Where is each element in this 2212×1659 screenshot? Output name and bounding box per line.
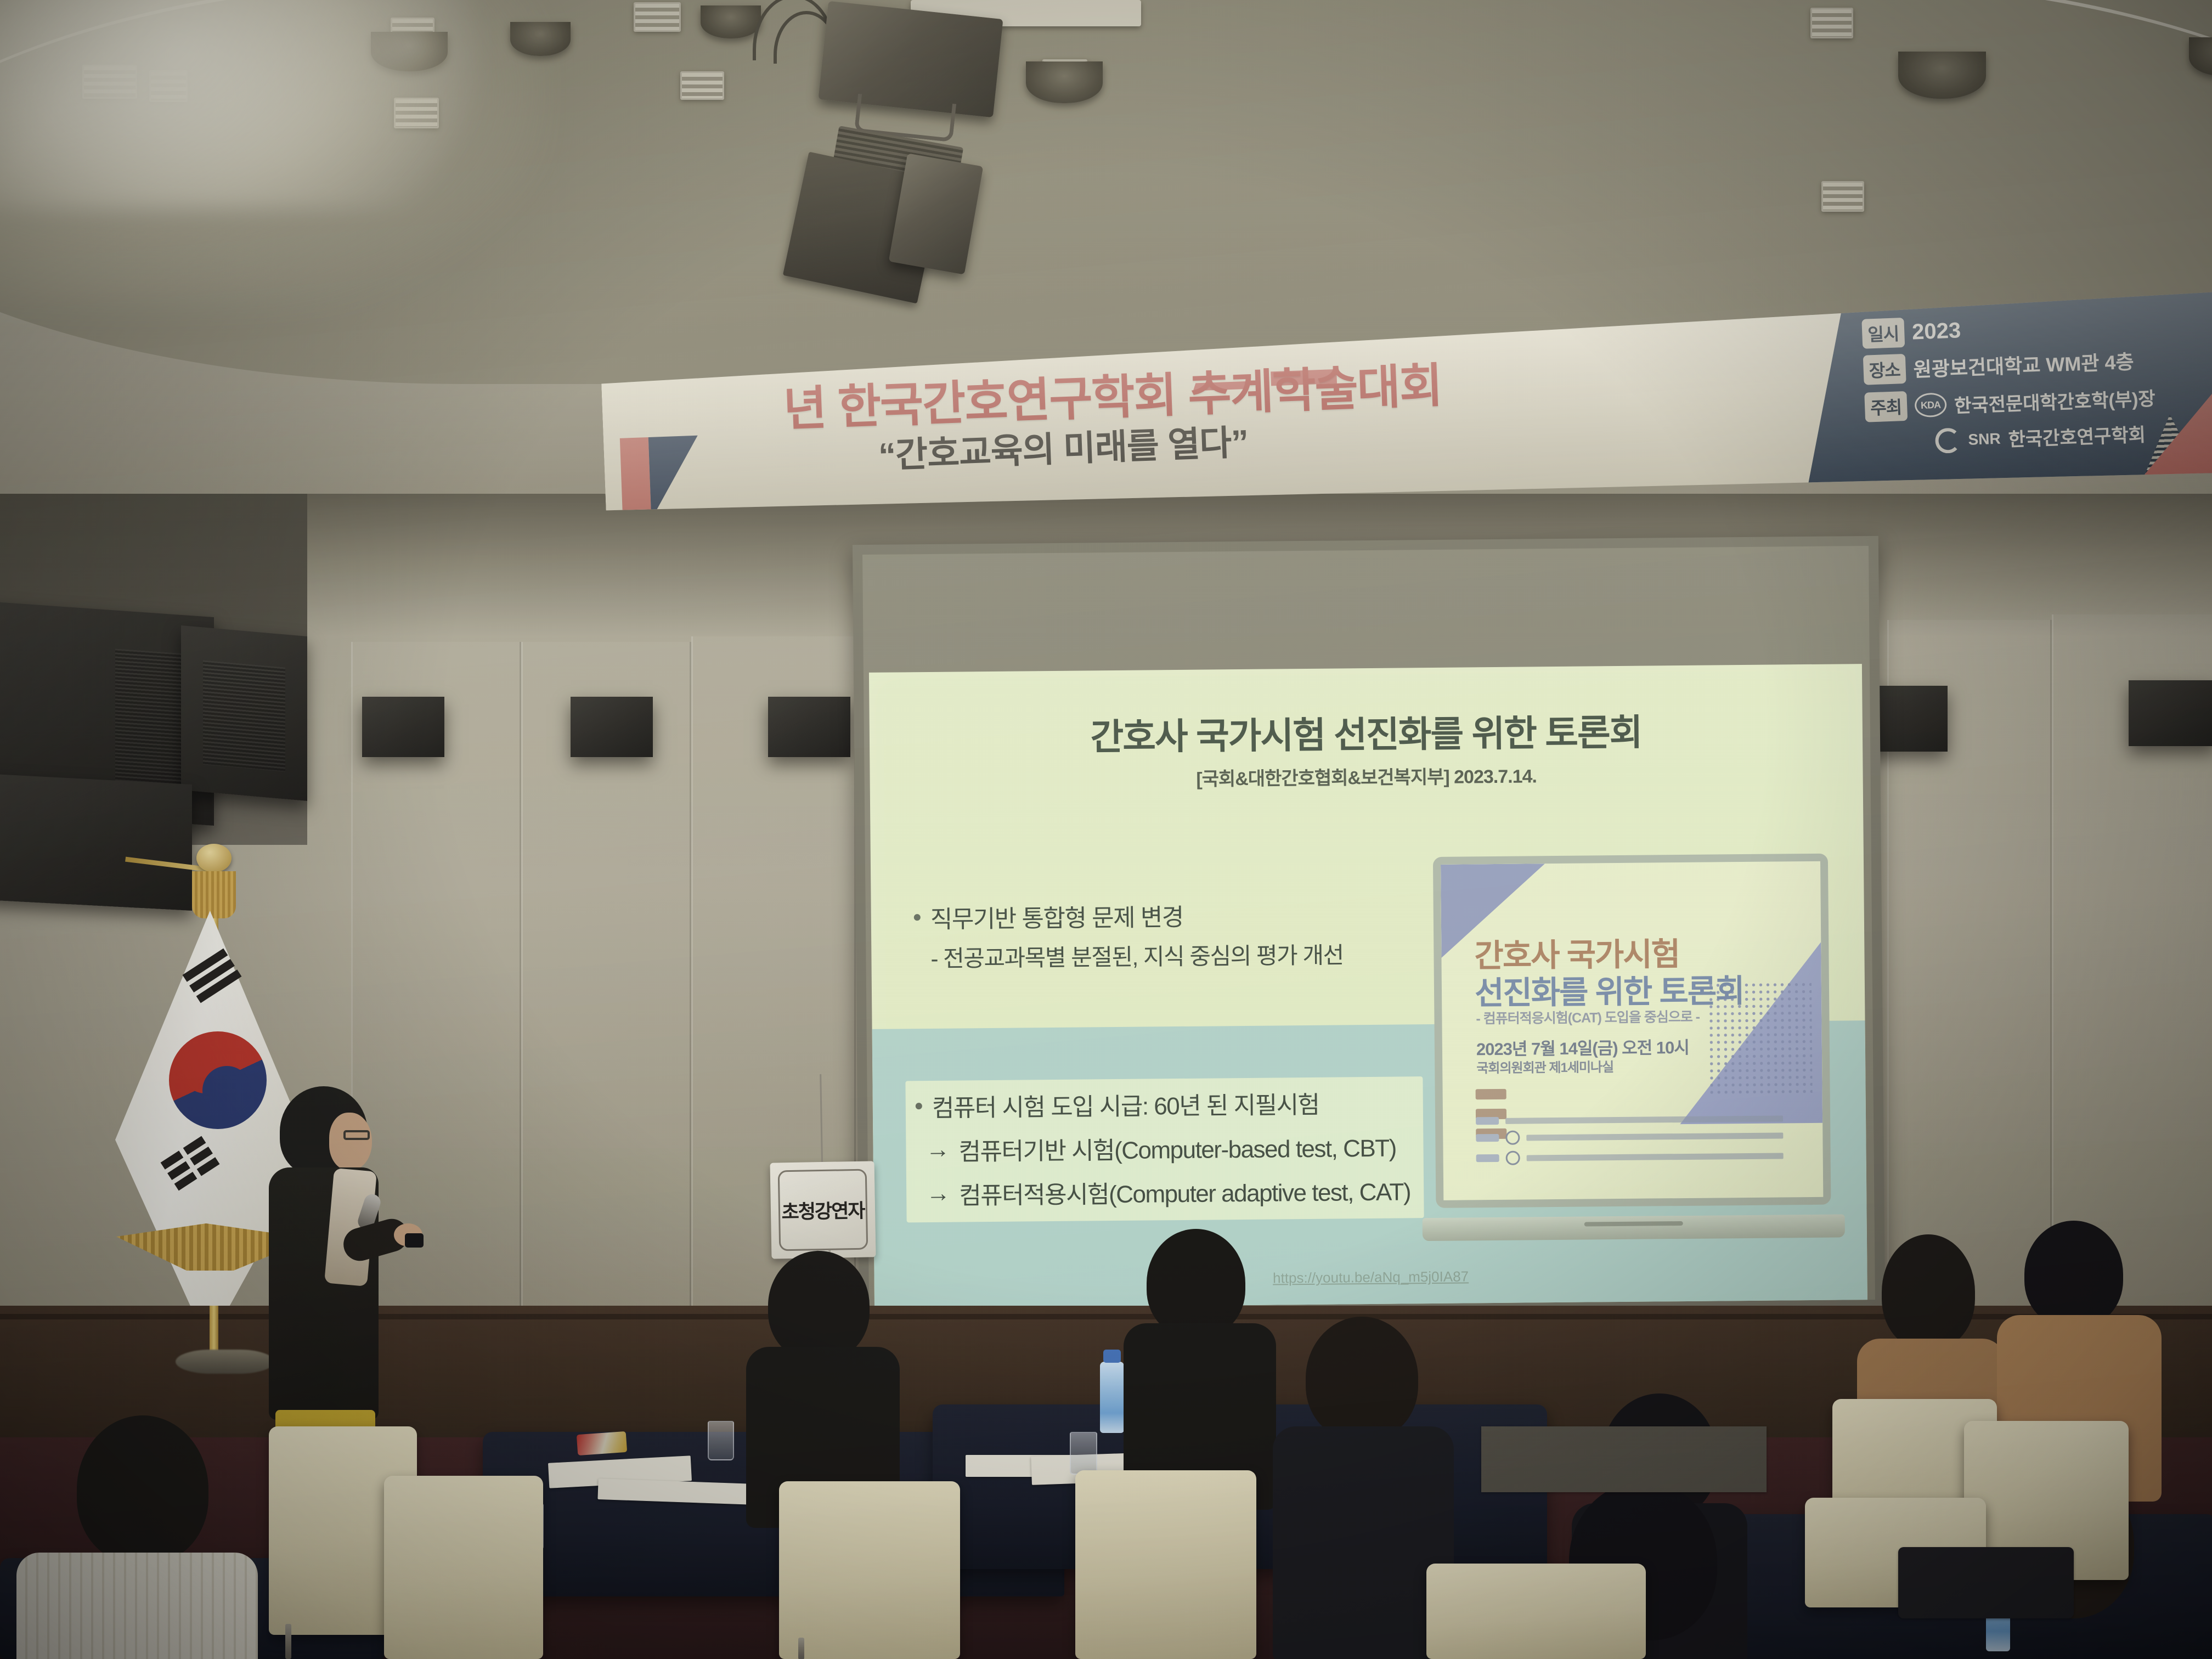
wall-speaker [768,697,850,757]
slide-arrow-text: 컴퓨터적용시험(Computer adaptive test, CAT) [959,1172,1410,1211]
laptop-mockup: 간호사 국가시험 선진화를 위한 토론회 - 컴퓨터적응시험(CAT) 도입을 … [1419,853,1845,1241]
flag-tassel [192,871,236,918]
laptop-bag [1898,1547,2074,1618]
invited-speaker-sign: 초청강연자 [770,1161,876,1259]
banner-info-row-date: 일시 2023 [1861,315,1961,349]
slide-highlight-box: 컴퓨터 시험 도입 시급: 60년 된 지필시험 → 컴퓨터기반 시험(Comp… [905,1076,1424,1222]
banner-host-name-2: 한국간호연구학회 [2008,420,2146,452]
pa-speaker [181,625,307,801]
banner-info-row-venue: 장소 원광보건대학교 WM관 4층 [1863,346,2135,385]
ceiling-vent [1821,181,1864,212]
sign-border: 초청강연자 [778,1169,868,1251]
slide-arrow-item: → 컴퓨터적용시험(Computer adaptive test, CAT) [916,1172,1410,1211]
water-bottle [1100,1362,1124,1433]
sign-text: 초청강연자 [781,1195,865,1225]
slide-bullet-subtext: - 전공교과목별 분절된, 지식 중심의 평가 개선 [914,936,1344,974]
wall-speaker [362,697,444,757]
ribbon-corsage [577,1431,627,1455]
banner-host-name-1: 한국전문대학간호학(부)장 [1954,383,2155,417]
presentation-slide: 간호사 국가시험 선진화를 위한 토론회 [국회&대한간호협회&보건복지부] 2… [869,664,1867,1308]
stage-step [1481,1426,1767,1492]
slide-arrow-item: → 컴퓨터기반 시험(Computer-based test, CBT) [916,1128,1410,1167]
bullet-dot-icon [914,914,921,921]
audience-head [2024,1221,2123,1328]
ceiling-downlight [510,22,571,56]
snr-logo-label: SNR [1968,430,2001,448]
conference-photo-scene: 년 한국간호연구학회 추계학술대회 “간호교육의 미래를 열다” 일시 2023… [0,0,2212,1659]
audience-head [77,1415,208,1564]
banner-motif [620,436,689,521]
audience-chair [1075,1470,1256,1659]
bottle-cap [1103,1350,1121,1363]
audience-head [768,1251,870,1361]
water-glass [708,1421,734,1460]
slide-bullet-text: 직무기반 통합형 문제 변경 [930,898,1183,935]
audience-head [1147,1229,1245,1338]
banner-info-row-host1: 주최 KDA 한국전문대학간호학(부)장 [1864,382,2155,422]
arrow-right-icon: → [926,1180,950,1207]
slide-bullet-group-2: 컴퓨터 시험 도입 시급: 60년 된 지필시험 → 컴퓨터기반 시험(Comp… [905,1076,1424,1222]
wall-speaker [571,697,653,757]
audience-torso [16,1553,258,1659]
poster-organizer-logos [1476,1114,1784,1171]
banner-tag-venue: 장소 [1863,354,1906,385]
speaker-grill [115,648,181,795]
banner-tag-date: 일시 [1861,318,1905,349]
poster-title-line2: 선진화를 위한 토론회 [1475,965,1744,1013]
speaker-grill [203,660,285,771]
logo-tag [1476,1134,1499,1142]
ceiling-downlight [701,5,761,38]
motif-navy-triangle [648,436,701,520]
projection-screen: 간호사 국가시험 선진화를 위한 토론회 [국회&대한간호협회&보건복지부] 2… [853,536,1885,1318]
slide-arrow-text: 컴퓨터기반 시험(Computer-based test, CBT) [958,1128,1396,1167]
ceiling-downlight [1026,61,1103,103]
program-tag [1476,1089,1506,1099]
slide-bullet-group-1: 직무기반 통합형 문제 변경 - 전공교과목별 분절된, 지식 중심의 평가 개… [914,896,1344,974]
chair-leg [285,1624,291,1659]
kda-logo-icon: KDA [1914,392,1947,417]
bullet-dot-icon [916,1103,922,1109]
banner-value-venue: 원광보건대학교 WM관 4층 [1913,346,2135,383]
banner-tag-host: 주최 [1864,391,1908,422]
debate-poster: 간호사 국가시험 선진화를 위한 토론회 - 컴퓨터적응시험(CAT) 도입을 … [1441,861,1823,1200]
ceiling-vent [634,2,681,32]
audience-chair [1426,1564,1646,1659]
ceiling-light-flare [0,0,483,208]
chair-leg [798,1638,804,1659]
snr-logo-icon [1935,427,1961,454]
slide-bullet-item: 컴퓨터 시험 도입 시급: 60년 된 지필시험 [916,1084,1410,1124]
program-lines [1514,1086,1805,1089]
motif-red-block [620,437,651,521]
organizer-logo-icon [1506,1151,1520,1165]
glasses-icon [343,1130,370,1140]
flag-finial-icon [196,844,232,872]
logo-text [1527,1153,1784,1161]
poster-program-row [1476,1086,1805,1099]
laptop-trackpad-notch [1584,1221,1683,1227]
slide-bullet-text: 컴퓨터 시험 도입 시급: 60년 된 지필시험 [932,1085,1319,1124]
water-glass [1070,1432,1097,1475]
banner-value-date: 2023 [1911,318,1961,345]
logo-tag [1476,1154,1499,1162]
poster-location: 국회의원회관 제1세미나실 [1476,1056,1613,1076]
logo-text [1526,1132,1783,1141]
slide-bullet-item: 직무기반 통합형 문제 변경 [914,896,1344,935]
poster-subtitle: - 컴퓨터적응시험(CAT) 도입을 중심으로 - [1476,1006,1700,1028]
wall-speaker [2129,680,2212,746]
audience-chair [779,1481,960,1659]
audience-chair [384,1476,543,1659]
laptop-base [1423,1214,1845,1241]
poster-logo-row [1476,1128,1783,1145]
arrow-right-icon: → [926,1136,950,1164]
poster-logo-row [1476,1148,1784,1165]
laptop-screen: 간호사 국가시험 선진화를 위한 토론회 - 컴퓨터적응시험(CAT) 도입을 … [1433,854,1831,1208]
logo-tag [1476,1117,1499,1125]
presentation-clicker [405,1233,424,1248]
presenter-face [329,1113,372,1170]
screen-surface: 간호사 국가시험 선진화를 위한 토론회 [국회&대한간호협회&보건복지부] 2… [862,546,1875,1308]
banner-info-panel: 일시 2023 장소 원광보건대학교 WM관 4층 주최 KDA 한국전문대학간… [1801,292,2212,488]
banner-info-row-host2: SNR 한국간호연구학회 [1935,420,2146,454]
audience-head [1306,1317,1418,1440]
slide-subtitle: [국회&대한간호협회&보건복지부] 2023.7.14. [870,758,1863,794]
audience-head [1882,1234,1975,1350]
logo-text [1505,1115,1783,1124]
ceiling-vent [680,71,724,100]
organizer-logo-icon [1505,1131,1520,1145]
ceiling-downlight [1898,52,1986,99]
ceiling-vent [1810,8,1853,38]
program-lines [1514,1106,1805,1109]
slide-title: 간호사 국가시험 선진화를 위한 토론회 [870,701,1863,763]
